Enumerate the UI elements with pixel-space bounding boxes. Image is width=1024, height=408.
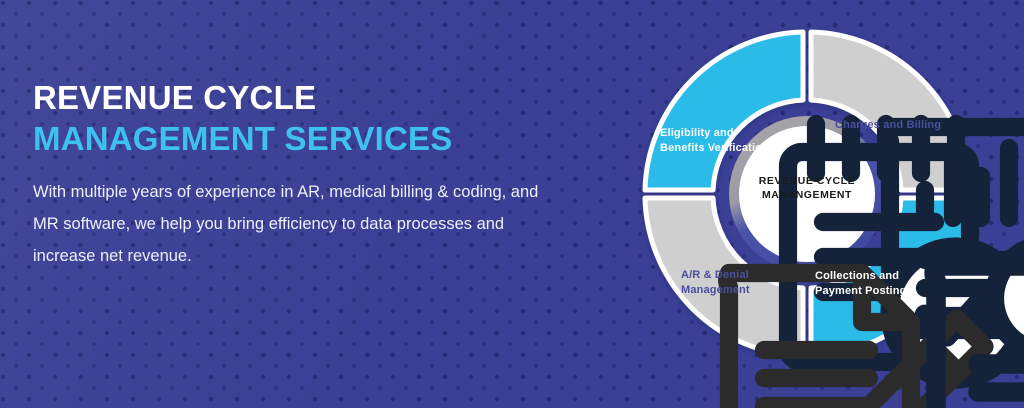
revenue-cycle-banner: REVENUE CYCLE MANAGEMENT SERVICES With m… bbox=[0, 0, 1024, 408]
headline-line-1: REVENUE CYCLE bbox=[33, 78, 593, 119]
donut-svg bbox=[639, 26, 975, 362]
headline-line-2: MANAGEMENT SERVICES bbox=[33, 119, 593, 160]
revenue-cycle-donut-diagram: Eligibility and Benefits Verification Ch… bbox=[639, 26, 975, 362]
page-title: REVENUE CYCLE MANAGEMENT SERVICES bbox=[33, 78, 593, 160]
hub-circle bbox=[739, 126, 875, 262]
banner-copy: REVENUE CYCLE MANAGEMENT SERVICES With m… bbox=[33, 78, 593, 272]
banner-paragraph: With multiple years of experience in AR,… bbox=[33, 176, 553, 273]
